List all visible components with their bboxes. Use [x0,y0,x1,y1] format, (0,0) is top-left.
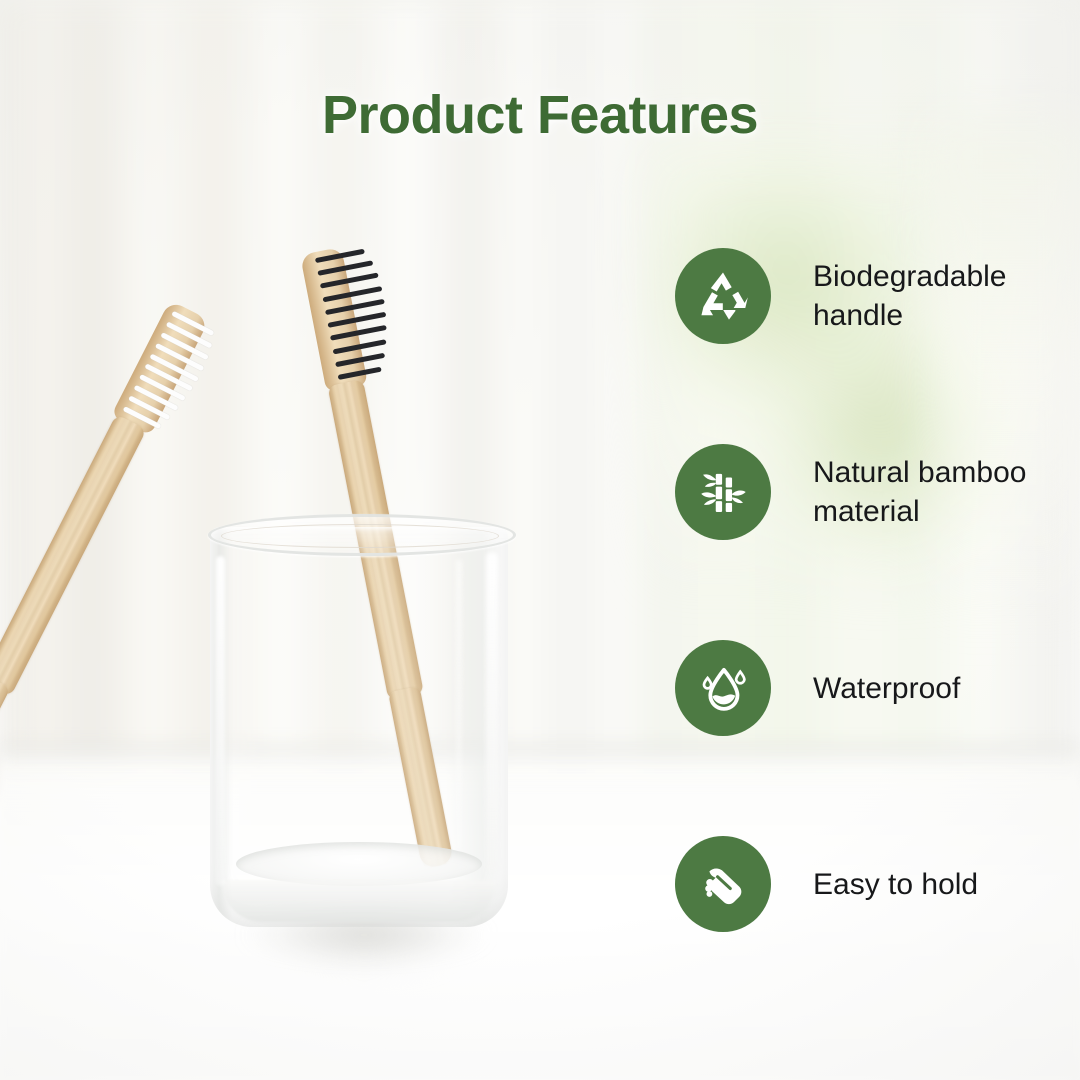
glass-rim-inner [221,524,499,548]
toothbrush-handle-white [0,414,147,697]
glass-base [222,880,496,922]
feature-label: Natural bamboo material [813,453,1026,531]
glass-highlight-right [486,552,498,872]
product-photo [0,0,640,1080]
water-drop-icon [675,640,771,736]
feature-label: Easy to hold [813,865,978,904]
feature-item-biodegradable: Biodegradable handle [675,248,1065,344]
feature-label: Waterproof [813,669,960,708]
glass-highlight-right-inner [456,560,462,850]
glass-reflection [214,908,514,1058]
glass-highlight-left [216,556,225,886]
feature-label: Biodegradable handle [813,257,1007,335]
product-features-infographic: Product Features Biodegradable handle [0,0,1080,1080]
hand-grip-icon [675,836,771,932]
toothbrush-handle-white-lower [0,674,11,866]
recycle-icon [675,248,771,344]
feature-item-easy-to-hold: Easy to hold [675,836,1065,932]
feature-item-waterproof: Waterproof [675,640,1065,736]
page-title: Product Features [0,84,1080,146]
feature-list: Biodegradable handle [675,248,1065,932]
feature-item-bamboo: Natural bamboo material [675,444,1065,540]
bamboo-icon [675,444,771,540]
